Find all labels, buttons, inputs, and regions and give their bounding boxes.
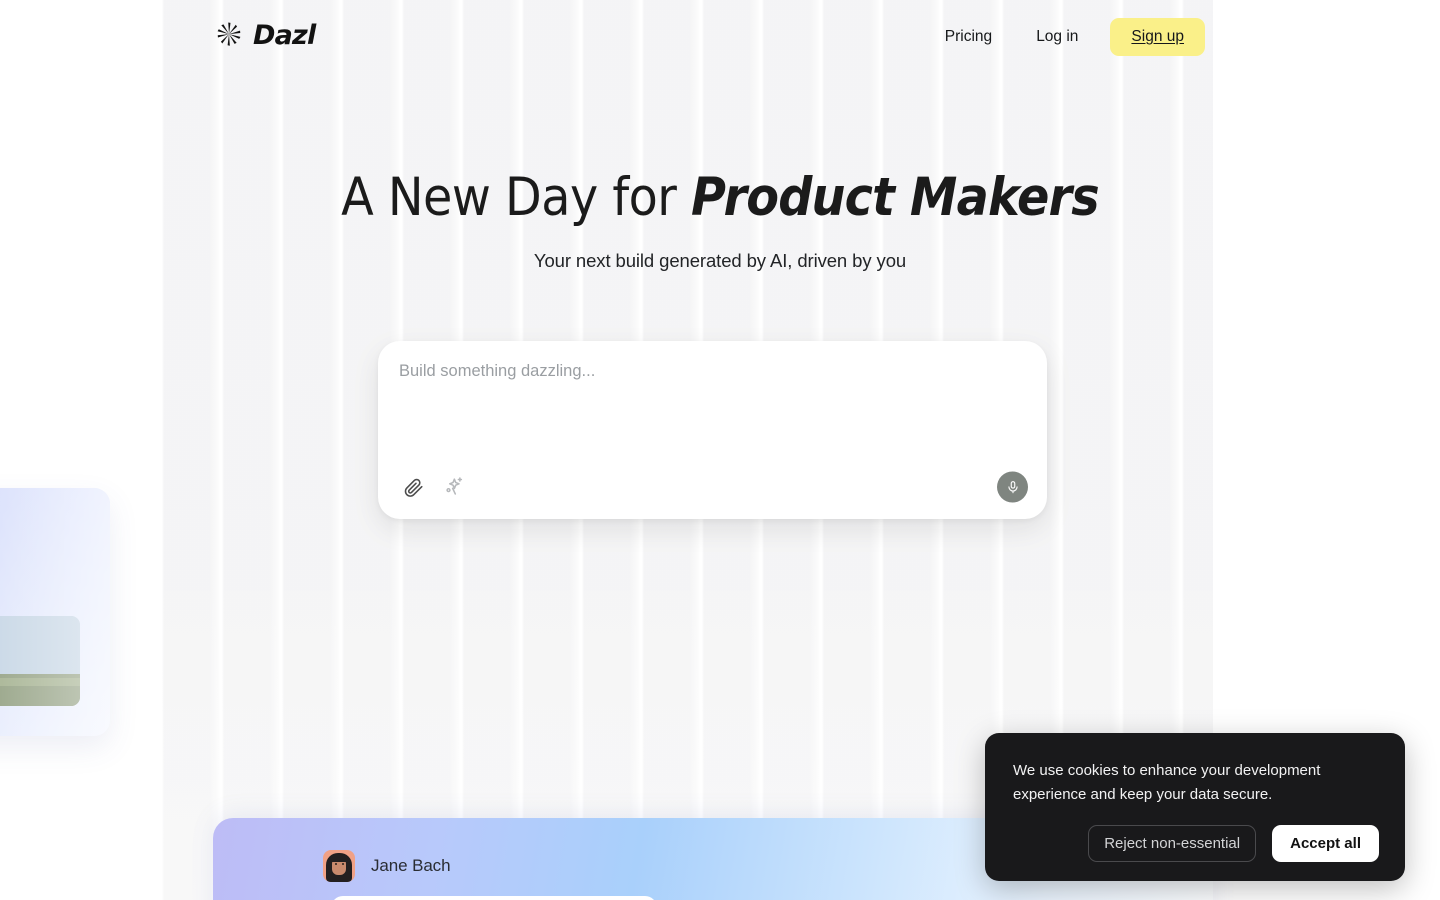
eiffel-tower-photo bbox=[0, 616, 80, 706]
headline-accent: Product Makers bbox=[691, 167, 1099, 228]
main-nav: Pricing Log in Sign up bbox=[923, 18, 1205, 56]
cookie-banner-message: We use cookies to enhance your developme… bbox=[1013, 759, 1365, 808]
signup-button[interactable]: Sign up bbox=[1110, 18, 1205, 56]
prompt-input[interactable] bbox=[399, 360, 1019, 460]
avatar-fringe bbox=[330, 854, 348, 862]
accept-cookies-button[interactable]: Accept all bbox=[1272, 825, 1379, 862]
site-header: Dazl Pricing Log in Sign up bbox=[0, 0, 1440, 76]
starburst-icon bbox=[214, 20, 244, 50]
nav-link-pricing[interactable]: Pricing bbox=[923, 18, 1014, 56]
bottom-card-user-row: Jane Bach bbox=[323, 850, 450, 882]
microphone-icon bbox=[1006, 480, 1020, 494]
avatar-eye-right bbox=[342, 863, 344, 865]
page-subtitle: Your next build generated by AI, driven … bbox=[0, 250, 1440, 272]
bottom-card-user-name: Jane Bach bbox=[371, 856, 450, 876]
prompt-toolbar bbox=[378, 455, 1047, 519]
avatar-eye-left bbox=[335, 863, 337, 865]
brand-wordmark: Dazl bbox=[253, 22, 315, 49]
eiffel-tower-illustration bbox=[0, 616, 80, 706]
headline-light: A New Day for bbox=[341, 167, 691, 228]
nav-link-login[interactable]: Log in bbox=[1014, 18, 1100, 56]
cookie-consent-banner: We use cookies to enhance your developme… bbox=[985, 733, 1405, 881]
bottom-card-inner-panel bbox=[331, 896, 657, 900]
reject-cookies-button[interactable]: Reject non-essential bbox=[1088, 825, 1256, 862]
sparkle-enhance-icon[interactable] bbox=[440, 474, 466, 500]
brand-logo[interactable]: Dazl bbox=[214, 20, 315, 50]
cookie-banner-actions: Reject non-essential Accept all bbox=[1088, 825, 1379, 862]
avatar bbox=[323, 850, 355, 882]
decorative-left-card: s to you r Filter bbox=[0, 488, 110, 736]
page-root: s to you r Filter bbox=[0, 0, 1440, 900]
attachment-icon[interactable] bbox=[400, 474, 426, 500]
hero-section: A New Day for Product Makers Your next b… bbox=[0, 168, 1440, 272]
prompt-composer bbox=[378, 341, 1047, 519]
page-title: A New Day for Product Makers bbox=[0, 168, 1440, 227]
microphone-button[interactable] bbox=[997, 472, 1028, 503]
